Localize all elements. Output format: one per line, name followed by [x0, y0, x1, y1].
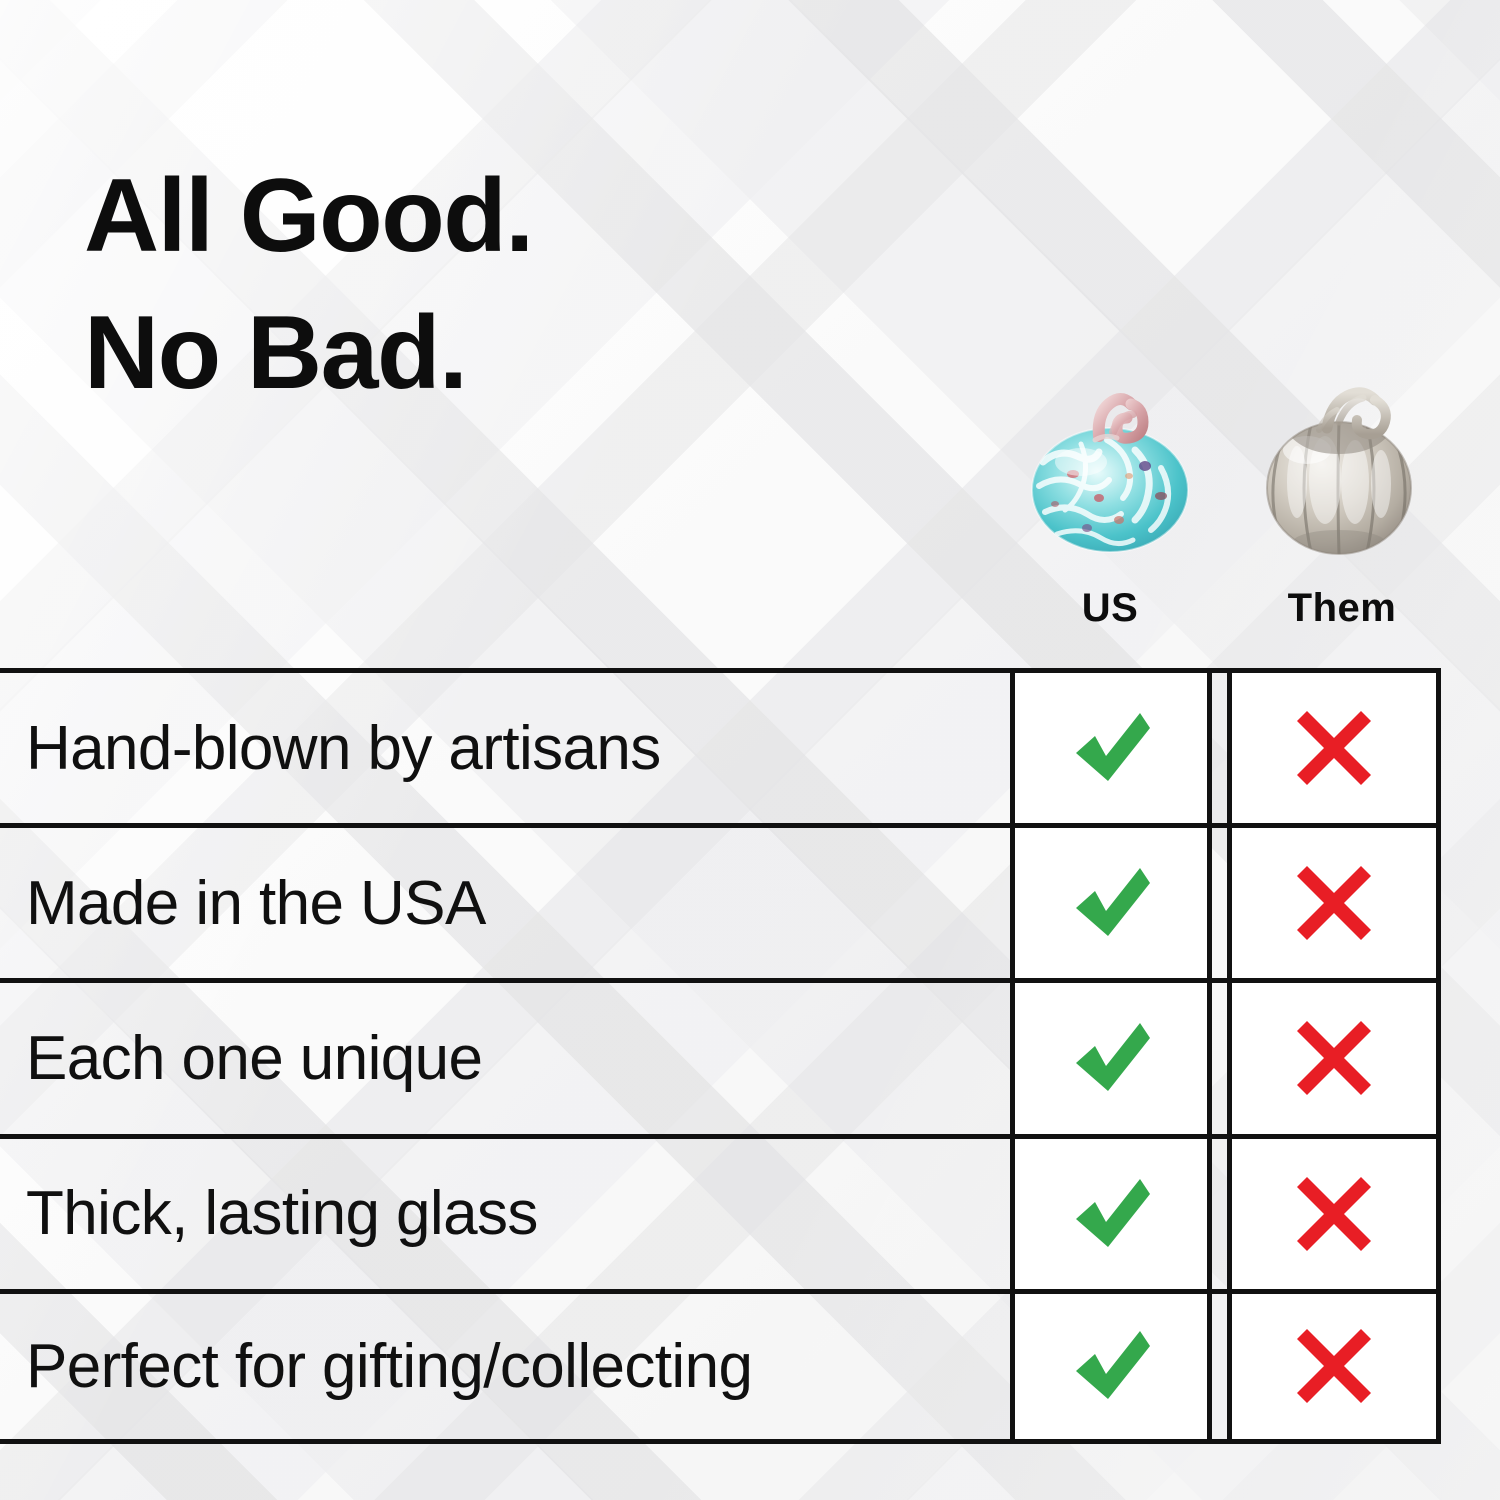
red-x-icon [1294, 708, 1374, 788]
column-them: Them [1227, 370, 1457, 631]
cell-them-cross [1227, 668, 1441, 823]
table-row: Hand-blown by artisans [0, 668, 1441, 823]
column-gap [1212, 1289, 1227, 1444]
table-row: Thick, lasting glass [0, 1134, 1441, 1289]
them-product-image [1227, 370, 1457, 570]
feature-label: Perfect for gifting/collecting [0, 1289, 1010, 1444]
column-gap [1212, 978, 1227, 1133]
green-check-icon [1068, 864, 1154, 942]
cell-us-check [1010, 668, 1212, 823]
teal-glass-pumpkin-icon [995, 370, 1225, 570]
column-us: US [995, 370, 1225, 631]
cell-them-cross [1227, 1134, 1441, 1289]
table-row: Each one unique [0, 978, 1441, 1133]
comparison-table: Hand-blown by artisans Made in the USA [0, 668, 1441, 1446]
feature-label: Each one unique [0, 978, 1010, 1133]
cell-us-check [1010, 1134, 1212, 1289]
green-check-icon [1068, 1327, 1154, 1405]
green-check-icon [1068, 1019, 1154, 1097]
cell-them-cross [1227, 978, 1441, 1133]
cell-us-check [1010, 823, 1212, 978]
cell-us-check [1010, 978, 1212, 1133]
green-check-icon [1068, 709, 1154, 787]
comparison-infographic: All Good. No Bad. [0, 0, 1500, 1500]
gray-glass-pumpkin-icon [1227, 370, 1457, 570]
page-title: All Good. No Bad. [84, 148, 533, 423]
table-row: Perfect for gifting/collecting [0, 1289, 1441, 1444]
red-x-icon [1294, 863, 1374, 943]
red-x-icon [1294, 1326, 1374, 1406]
cell-us-check [1010, 1289, 1212, 1444]
column-gap [1212, 1134, 1227, 1289]
cell-them-cross [1227, 1289, 1441, 1444]
red-x-icon [1294, 1018, 1374, 1098]
column-gap [1212, 668, 1227, 823]
feature-label: Hand-blown by artisans [0, 668, 1010, 823]
column-header-us: US [995, 586, 1225, 631]
headline-line-2: No Bad. [84, 285, 533, 422]
feature-label: Made in the USA [0, 823, 1010, 978]
column-gap [1212, 823, 1227, 978]
column-header-them: Them [1227, 586, 1457, 631]
cell-them-cross [1227, 823, 1441, 978]
table-row: Made in the USA [0, 823, 1441, 978]
feature-label: Thick, lasting glass [0, 1134, 1010, 1289]
us-product-image [995, 370, 1225, 570]
red-x-icon [1294, 1174, 1374, 1254]
green-check-icon [1068, 1175, 1154, 1253]
headline-line-1: All Good. [84, 148, 533, 285]
